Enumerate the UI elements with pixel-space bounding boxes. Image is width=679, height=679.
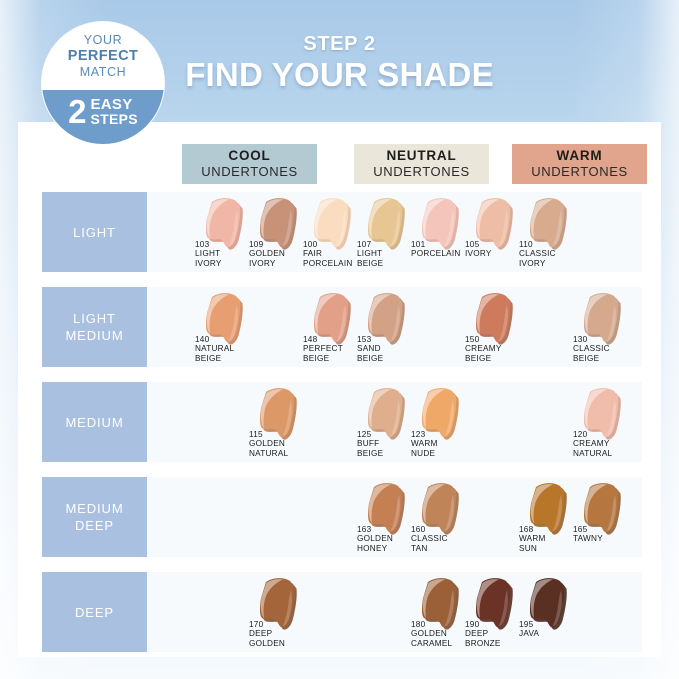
row-label-medium-deep[interactable]: MEDIUM DEEP xyxy=(42,477,147,557)
shade-name: DEEP GOLDEN xyxy=(249,629,285,648)
badge-line-perfect: PERFECT xyxy=(68,48,138,64)
shade-name: BUFF BEIGE xyxy=(357,439,383,458)
shade-name: GOLDEN NATURAL xyxy=(249,439,288,458)
shade-swatch[interactable]: 170DEEP GOLDEN xyxy=(245,572,319,652)
shade-swatch[interactable]: 195JAVA xyxy=(515,572,589,652)
undertone-name: NEUTRAL xyxy=(386,148,456,164)
undertone-sublabel: UNDERTONES xyxy=(201,164,298,180)
shade-name: GOLDEN IVORY xyxy=(249,249,285,268)
shade-name: IVORY xyxy=(465,249,492,259)
shade-name: FAIR PORCELAIN xyxy=(303,249,353,268)
undertone-header-cool: COOLUNDERTONES xyxy=(182,144,317,184)
shade-name: WARM NUDE xyxy=(411,439,438,458)
row-label-light-medium[interactable]: LIGHT MEDIUM xyxy=(42,287,147,367)
shade-name: LIGHT BEIGE xyxy=(357,249,383,268)
badge-step-number: 2 xyxy=(68,95,86,129)
shade-name: PORCELAIN xyxy=(411,249,461,259)
shade-name: DEEP BRONZE xyxy=(465,629,501,648)
undertone-name: COOL xyxy=(228,148,270,164)
shade-name: TAWNY xyxy=(573,534,603,544)
shade-row: LIGHT103LIGHT IVORY109GOLDEN IVORY100FAI… xyxy=(42,192,642,272)
badge-line-your: YOUR xyxy=(84,33,123,47)
shade-name: GOLDEN HONEY xyxy=(357,534,393,553)
shade-swatch[interactable]: 165TAWNY xyxy=(569,477,643,557)
shade-swatch[interactable]: 160CLASSIC TAN xyxy=(407,477,481,557)
shade-row: DEEP170DEEP GOLDEN180GOLDEN CARAMEL190DE… xyxy=(42,572,642,652)
shade-swatch[interactable]: 140NATURAL BEIGE xyxy=(191,287,265,367)
shade-chart-card: COOLUNDERTONESNEUTRALUNDERTONESWARMUNDER… xyxy=(18,122,661,657)
undertone-sublabel: UNDERTONES xyxy=(373,164,470,180)
badge-line-match: MATCH xyxy=(80,65,127,79)
shade-name: CLASSIC IVORY xyxy=(519,249,556,268)
badge-bottom: 2 EASY STEPS xyxy=(42,90,164,144)
shade-name: JAVA xyxy=(519,629,539,639)
row-label-deep[interactable]: DEEP xyxy=(42,572,147,652)
shade-swatch[interactable]: 110CLASSIC IVORY xyxy=(515,192,589,272)
shade-name: NATURAL BEIGE xyxy=(195,344,234,363)
shade-swatch[interactable]: 130CLASSIC BEIGE xyxy=(569,287,643,367)
row-label-light[interactable]: LIGHT xyxy=(42,192,147,272)
shade-row: MEDIUM115GOLDEN NATURAL125BUFF BEIGE123W… xyxy=(42,382,642,462)
undertone-sublabel: UNDERTONES xyxy=(531,164,628,180)
shade-row: LIGHT MEDIUM140NATURAL BEIGE148PERFECT B… xyxy=(42,287,642,367)
badge-line-easy: EASY xyxy=(90,97,137,112)
undertone-header-warm: WARMUNDERTONES xyxy=(512,144,647,184)
shade-row: MEDIUM DEEP163GOLDEN HONEY160CLASSIC TAN… xyxy=(42,477,642,557)
row-label-medium[interactable]: MEDIUM xyxy=(42,382,147,462)
shade-swatch[interactable]: 150CREAMY BEIGE xyxy=(461,287,535,367)
perfect-match-badge: YOUR PERFECT MATCH 2 EASY STEPS xyxy=(42,22,164,144)
shade-name: CREAMY NATURAL xyxy=(573,439,612,458)
shade-swatch[interactable]: 120CREAMY NATURAL xyxy=(569,382,643,462)
shade-name: GOLDEN CARAMEL xyxy=(411,629,452,648)
shade-name: PERFECT BEIGE xyxy=(303,344,343,363)
shade-grid: LIGHT103LIGHT IVORY109GOLDEN IVORY100FAI… xyxy=(18,184,661,657)
shade-swatch[interactable]: 153SAND BEIGE xyxy=(353,287,427,367)
shade-name: CLASSIC TAN xyxy=(411,534,448,553)
undertone-name: WARM xyxy=(557,148,603,164)
shade-name: CLASSIC BEIGE xyxy=(573,344,610,363)
badge-line-steps: STEPS xyxy=(90,112,137,127)
shade-name: CREAMY BEIGE xyxy=(465,344,502,363)
badge-top: YOUR PERFECT MATCH xyxy=(42,22,164,90)
shade-finder-infographic: STEP 2 FIND YOUR SHADE YOUR PERFECT MATC… xyxy=(0,0,679,679)
shade-swatch[interactable]: 123WARM NUDE xyxy=(407,382,481,462)
shade-swatch[interactable]: 115GOLDEN NATURAL xyxy=(245,382,319,462)
shade-name: LIGHT IVORY xyxy=(195,249,222,268)
badge-words: EASY STEPS xyxy=(90,95,137,127)
undertone-header-neutral: NEUTRALUNDERTONES xyxy=(354,144,489,184)
shade-name: WARM SUN xyxy=(519,534,546,553)
shade-name: SAND BEIGE xyxy=(357,344,383,363)
